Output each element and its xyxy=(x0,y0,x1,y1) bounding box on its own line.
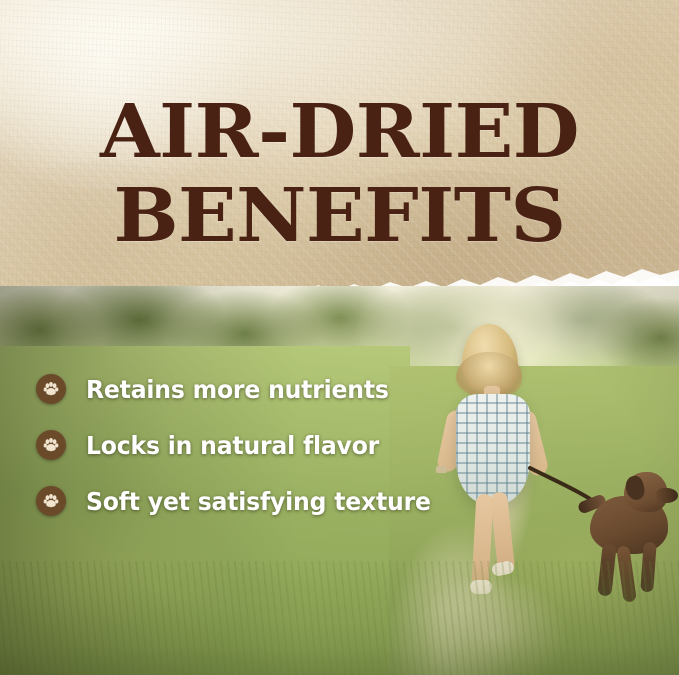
list-item: Retains more nutrients xyxy=(36,374,466,404)
benefit-text: Soft yet satisfying texture xyxy=(86,487,431,516)
air-dried-benefits-ad: AIR-DRIED BENEFITS xyxy=(0,0,679,675)
headline-line-1: AIR-DRIED xyxy=(0,96,679,169)
benefits-list: Retains more nutrients Locks in natural … xyxy=(36,374,466,542)
list-item: Soft yet satisfying texture xyxy=(36,486,466,516)
paw-print-icon xyxy=(36,374,66,404)
lifestyle-photo: Retains more nutrients Locks in natural … xyxy=(0,286,679,675)
benefit-text: Retains more nutrients xyxy=(86,375,389,404)
paw-print-icon xyxy=(36,486,66,516)
headline-line-2: BENEFITS xyxy=(0,180,679,253)
page-title: AIR-DRIED BENEFITS xyxy=(0,96,679,253)
paw-print-icon xyxy=(36,430,66,460)
benefit-text: Locks in natural flavor xyxy=(86,431,379,460)
list-item: Locks in natural flavor xyxy=(36,430,466,460)
